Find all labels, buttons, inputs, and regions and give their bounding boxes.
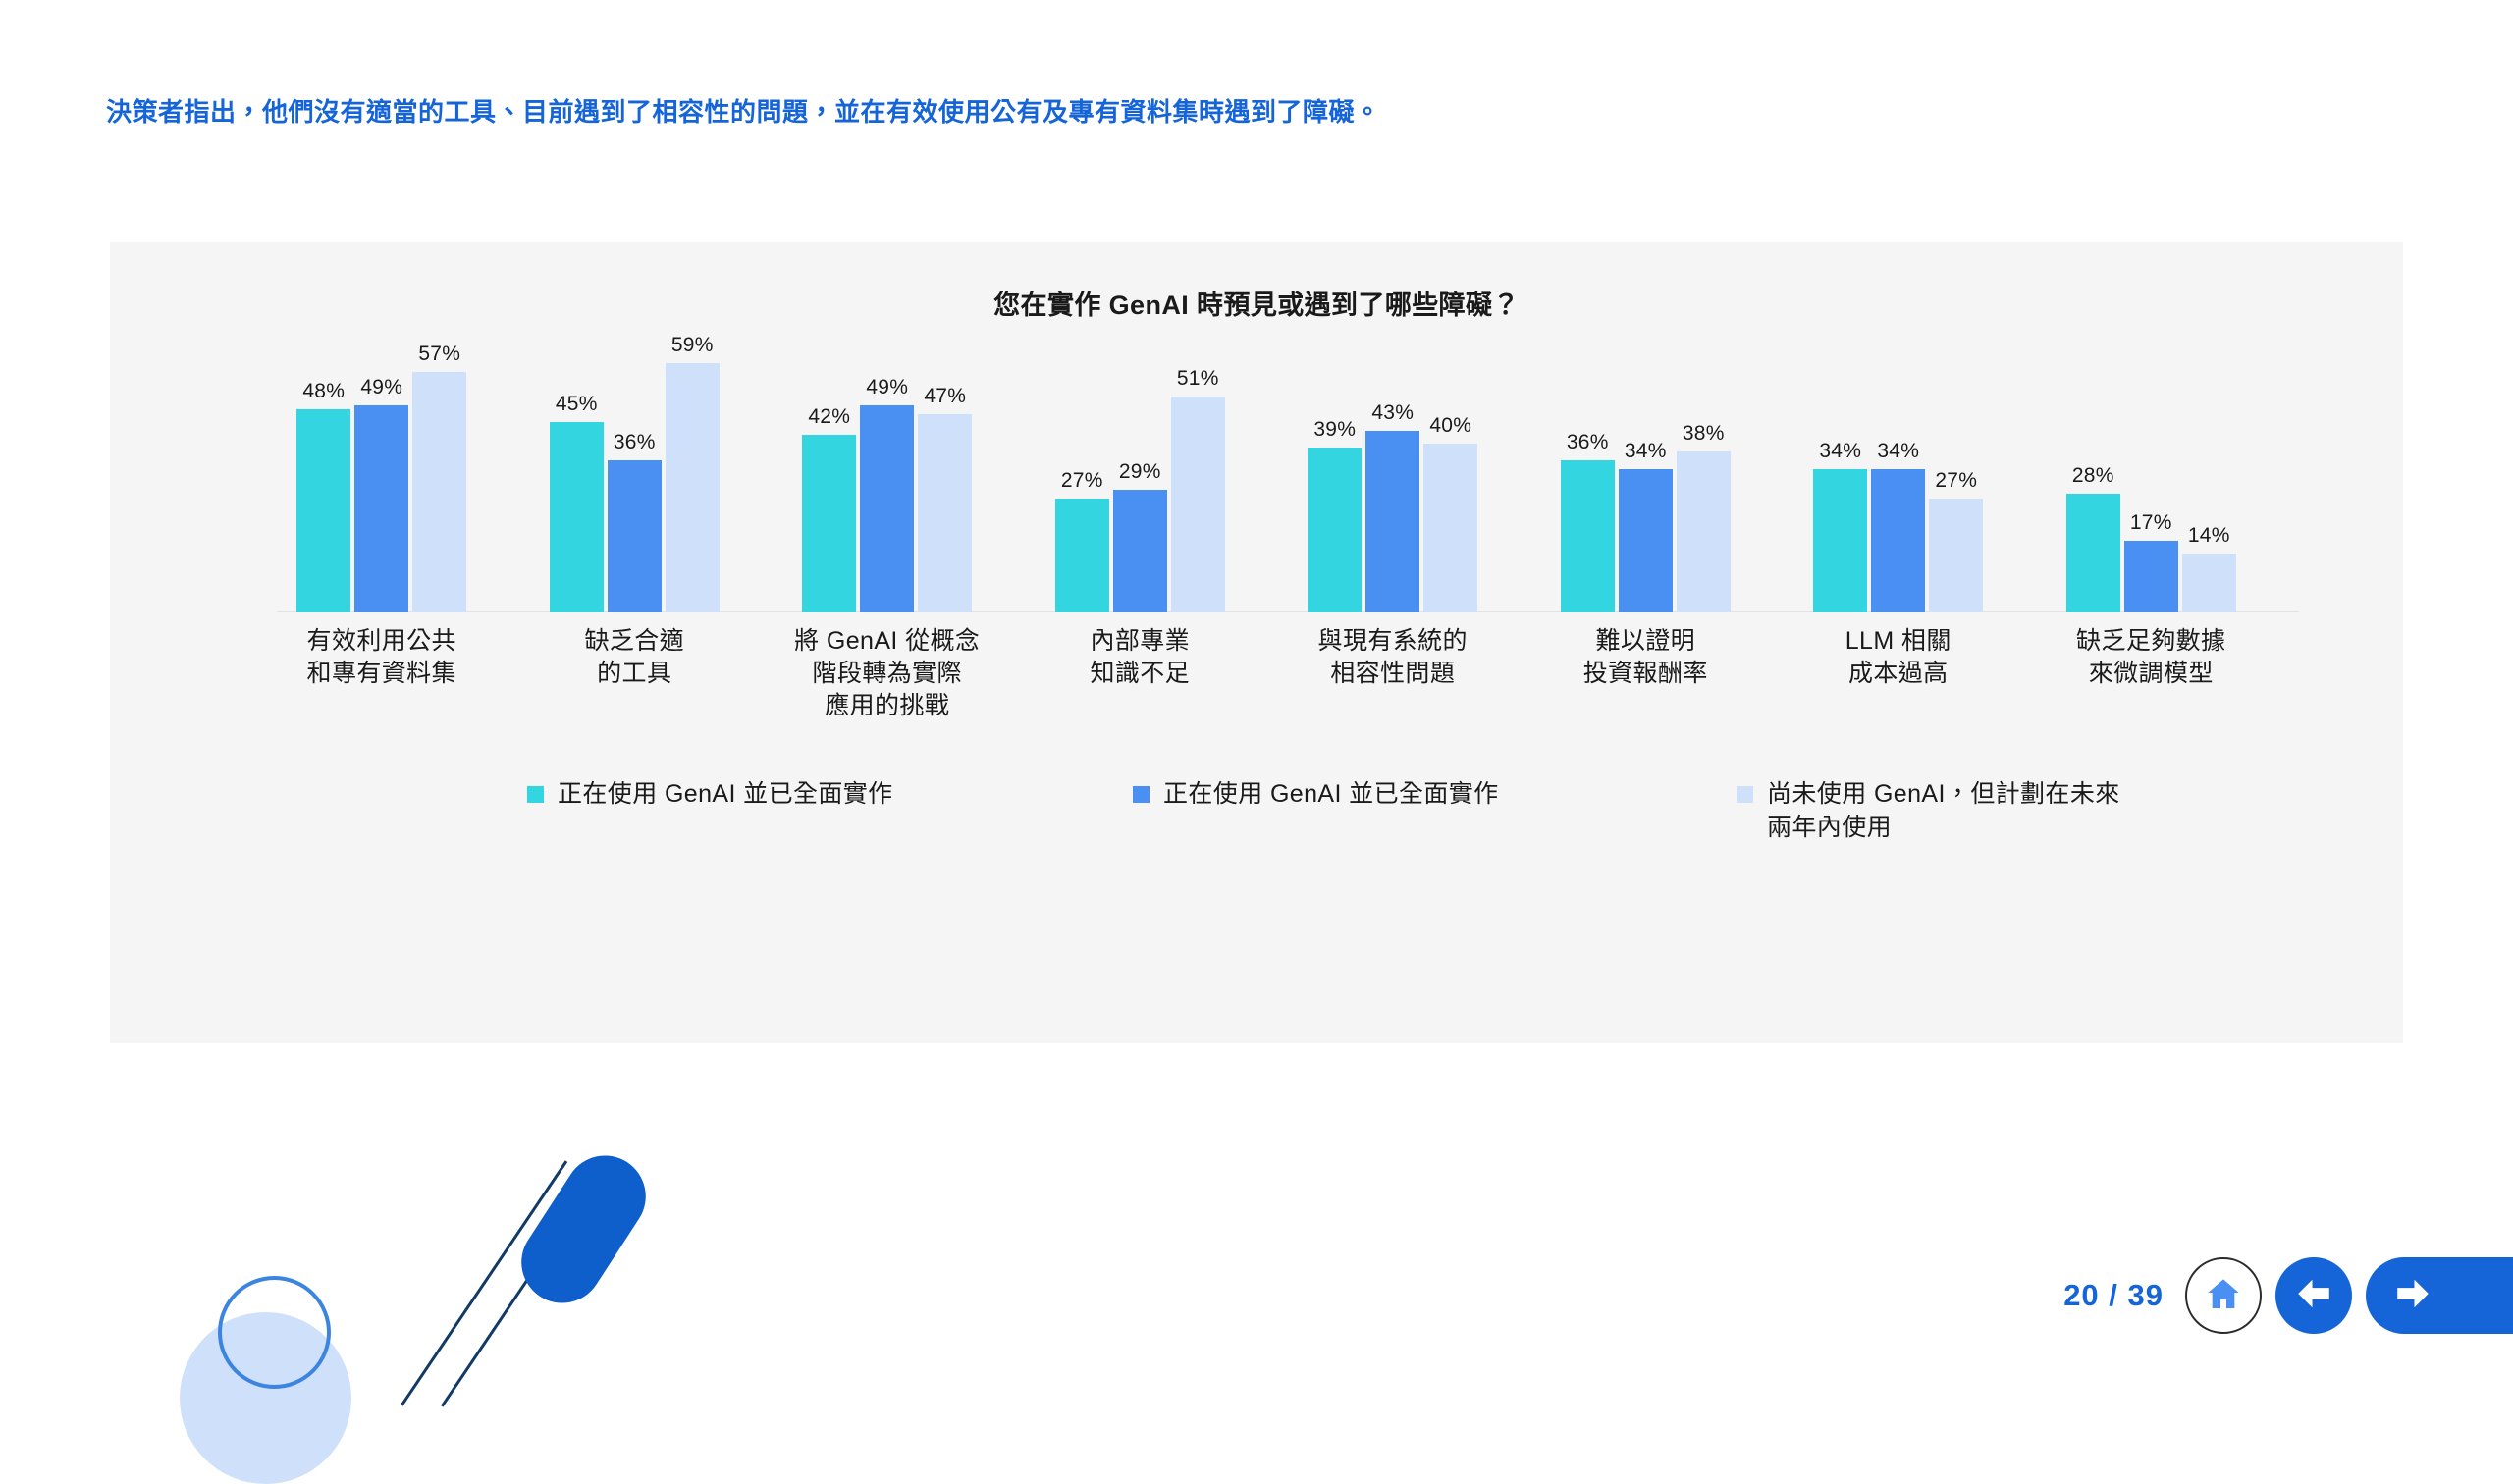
bar-column: 27% [1929, 350, 1983, 612]
bar[interactable] [1308, 448, 1362, 612]
bar-value-label: 42% [808, 405, 850, 429]
chart-plot-area: 48%49%57%45%36%59%42%49%47%27%29%51%39%4… [277, 350, 2299, 612]
bar-value-label: 34% [1877, 440, 1919, 463]
bar[interactable] [1423, 444, 1477, 612]
slide-navigation: 20 / 39 [2063, 1254, 2513, 1337]
legend-swatch [527, 786, 544, 803]
bar-column: 34% [1871, 350, 1925, 612]
bar-group: 45%36%59% [550, 350, 720, 612]
bar-column: 57% [412, 350, 466, 612]
bar-group: 34%34%27% [1813, 350, 1983, 612]
bar-value-label: 34% [1819, 440, 1861, 463]
bar[interactable] [1365, 431, 1419, 612]
bar-value-label: 51% [1177, 367, 1219, 391]
bar-column: 17% [2124, 350, 2178, 612]
bar-group: 28%17%14% [2066, 350, 2236, 612]
bar-column: 27% [1055, 350, 1109, 612]
bar[interactable] [296, 409, 350, 612]
bar-value-label: 49% [866, 376, 908, 399]
bar-group: 48%49%57% [296, 350, 466, 612]
bar-value-label: 39% [1313, 418, 1356, 442]
bar[interactable] [550, 422, 604, 612]
bar[interactable] [2066, 494, 2120, 612]
bar[interactable] [1171, 397, 1225, 612]
legend-label: 正在使用 GenAI 並已全面實作 [558, 777, 893, 811]
category-label: 缺乏足夠數據來微調模型 [2025, 625, 2278, 690]
bar[interactable] [1871, 469, 1925, 612]
bar-value-label: 43% [1371, 401, 1414, 425]
category-label: 將 GenAI 從概念階段轉為實際應用的挑戰 [761, 625, 1014, 722]
bar[interactable] [1113, 490, 1167, 612]
bar-column: 38% [1677, 350, 1731, 612]
bar-value-label: 36% [1567, 431, 1609, 454]
bar-column: 29% [1113, 350, 1167, 612]
bar-value-label: 38% [1683, 422, 1725, 446]
bar-value-label: 27% [1061, 469, 1103, 493]
legend-swatch [1133, 786, 1150, 803]
bar[interactable] [412, 372, 466, 612]
bar-column: 49% [354, 350, 408, 612]
decorative-outline-circle [218, 1276, 331, 1389]
bar-column: 14% [2182, 350, 2236, 612]
bar-value-label: 27% [1935, 469, 1977, 493]
chart-title: 您在實作 GenAI 時預見或遇到了哪些障礙？ [110, 284, 2403, 322]
home-icon [2204, 1274, 2243, 1318]
bar[interactable] [1561, 460, 1615, 612]
bar[interactable] [666, 363, 720, 612]
bar-column: 34% [1619, 350, 1673, 612]
bar[interactable] [918, 414, 972, 612]
category-label: 難以證明投資報酬率 [1520, 625, 1773, 690]
bar[interactable] [2124, 541, 2178, 612]
category-label: 有效利用公共和專有資料集 [255, 625, 508, 690]
bar[interactable] [860, 405, 914, 612]
legend-label: 尚未使用 GenAI，但計劃在未來 兩年內使用 [1767, 777, 2120, 844]
bar[interactable] [1677, 451, 1731, 612]
bar[interactable] [1813, 469, 1867, 612]
bar-value-label: 47% [924, 385, 966, 408]
previous-slide-button[interactable] [2275, 1257, 2352, 1334]
bar-value-label: 57% [418, 343, 460, 366]
category-label: 與現有系統的相容性問題 [1266, 625, 1520, 690]
bar-value-label: 14% [2188, 524, 2230, 548]
bar-column: 49% [860, 350, 914, 612]
bar-column: 48% [296, 350, 350, 612]
legend-swatch [1737, 786, 1753, 803]
bar-column: 39% [1308, 350, 1362, 612]
bar-value-label: 48% [302, 380, 345, 403]
bar-column: 40% [1423, 350, 1477, 612]
bar-value-label: 59% [671, 334, 714, 357]
arrow-right-icon [2391, 1272, 2434, 1320]
legend-item[interactable]: 正在使用 GenAI 並已全面實作 [527, 777, 893, 811]
category-axis-labels: 有效利用公共和專有資料集缺乏合適的工具將 GenAI 從概念階段轉為實際應用的挑… [277, 625, 2299, 772]
bar-column: 42% [802, 350, 856, 612]
bar-value-label: 34% [1625, 440, 1667, 463]
legend-item[interactable]: 尚未使用 GenAI，但計劃在未來 兩年內使用 [1737, 777, 2120, 844]
category-label: LLM 相關成本過高 [1772, 625, 2025, 690]
bar[interactable] [1619, 469, 1673, 612]
page-counter: 20 / 39 [2063, 1278, 2164, 1313]
bar-column: 51% [1171, 350, 1225, 612]
bar-value-label: 36% [614, 431, 656, 454]
bar-column: 43% [1365, 350, 1419, 612]
bar[interactable] [354, 405, 408, 612]
chart-panel: 您在實作 GenAI 時預見或遇到了哪些障礙？ 48%49%57%45%36%5… [110, 242, 2403, 1043]
bar-group: 42%49%47% [802, 350, 972, 612]
bar[interactable] [608, 460, 662, 612]
bar-column: 28% [2066, 350, 2120, 612]
bar[interactable] [1929, 499, 1983, 612]
bar-group: 36%34%38% [1561, 350, 1731, 612]
bar-value-label: 28% [2072, 464, 2114, 488]
bar-column: 34% [1813, 350, 1867, 612]
category-label: 內部專業知識不足 [1014, 625, 1267, 690]
bar-column: 59% [666, 350, 720, 612]
bar[interactable] [2182, 554, 2236, 612]
decorative-pill-shape [506, 1140, 661, 1319]
slide-headline: 決策者指出，他們沒有適當的工具、目前遇到了相容性的問題，並在有效使用公有及專有資… [106, 92, 1381, 129]
bar[interactable] [802, 435, 856, 612]
bar-value-label: 45% [556, 393, 598, 416]
legend-item[interactable]: 正在使用 GenAI 並已全面實作 [1133, 777, 1499, 811]
category-label: 缺乏合適的工具 [508, 625, 762, 690]
bar-value-label: 29% [1119, 460, 1161, 484]
bar-column: 47% [918, 350, 972, 612]
chart-legend: 正在使用 GenAI 並已全面實作正在使用 GenAI 並已全面實作尚未使用 G… [110, 777, 2403, 885]
home-button[interactable] [2185, 1257, 2262, 1334]
bar-group: 27%29%51% [1055, 350, 1225, 612]
next-slide-button[interactable] [2366, 1257, 2513, 1334]
bar-column: 36% [608, 350, 662, 612]
bar-group: 39%43%40% [1308, 350, 1477, 612]
bar[interactable] [1055, 499, 1109, 612]
bar-value-label: 17% [2130, 511, 2172, 535]
bar-value-label: 40% [1429, 414, 1471, 438]
bar-value-label: 49% [360, 376, 402, 399]
legend-label: 正在使用 GenAI 並已全面實作 [1163, 777, 1499, 811]
bar-column: 36% [1561, 350, 1615, 612]
arrow-left-icon [2292, 1272, 2335, 1320]
bar-column: 45% [550, 350, 604, 612]
